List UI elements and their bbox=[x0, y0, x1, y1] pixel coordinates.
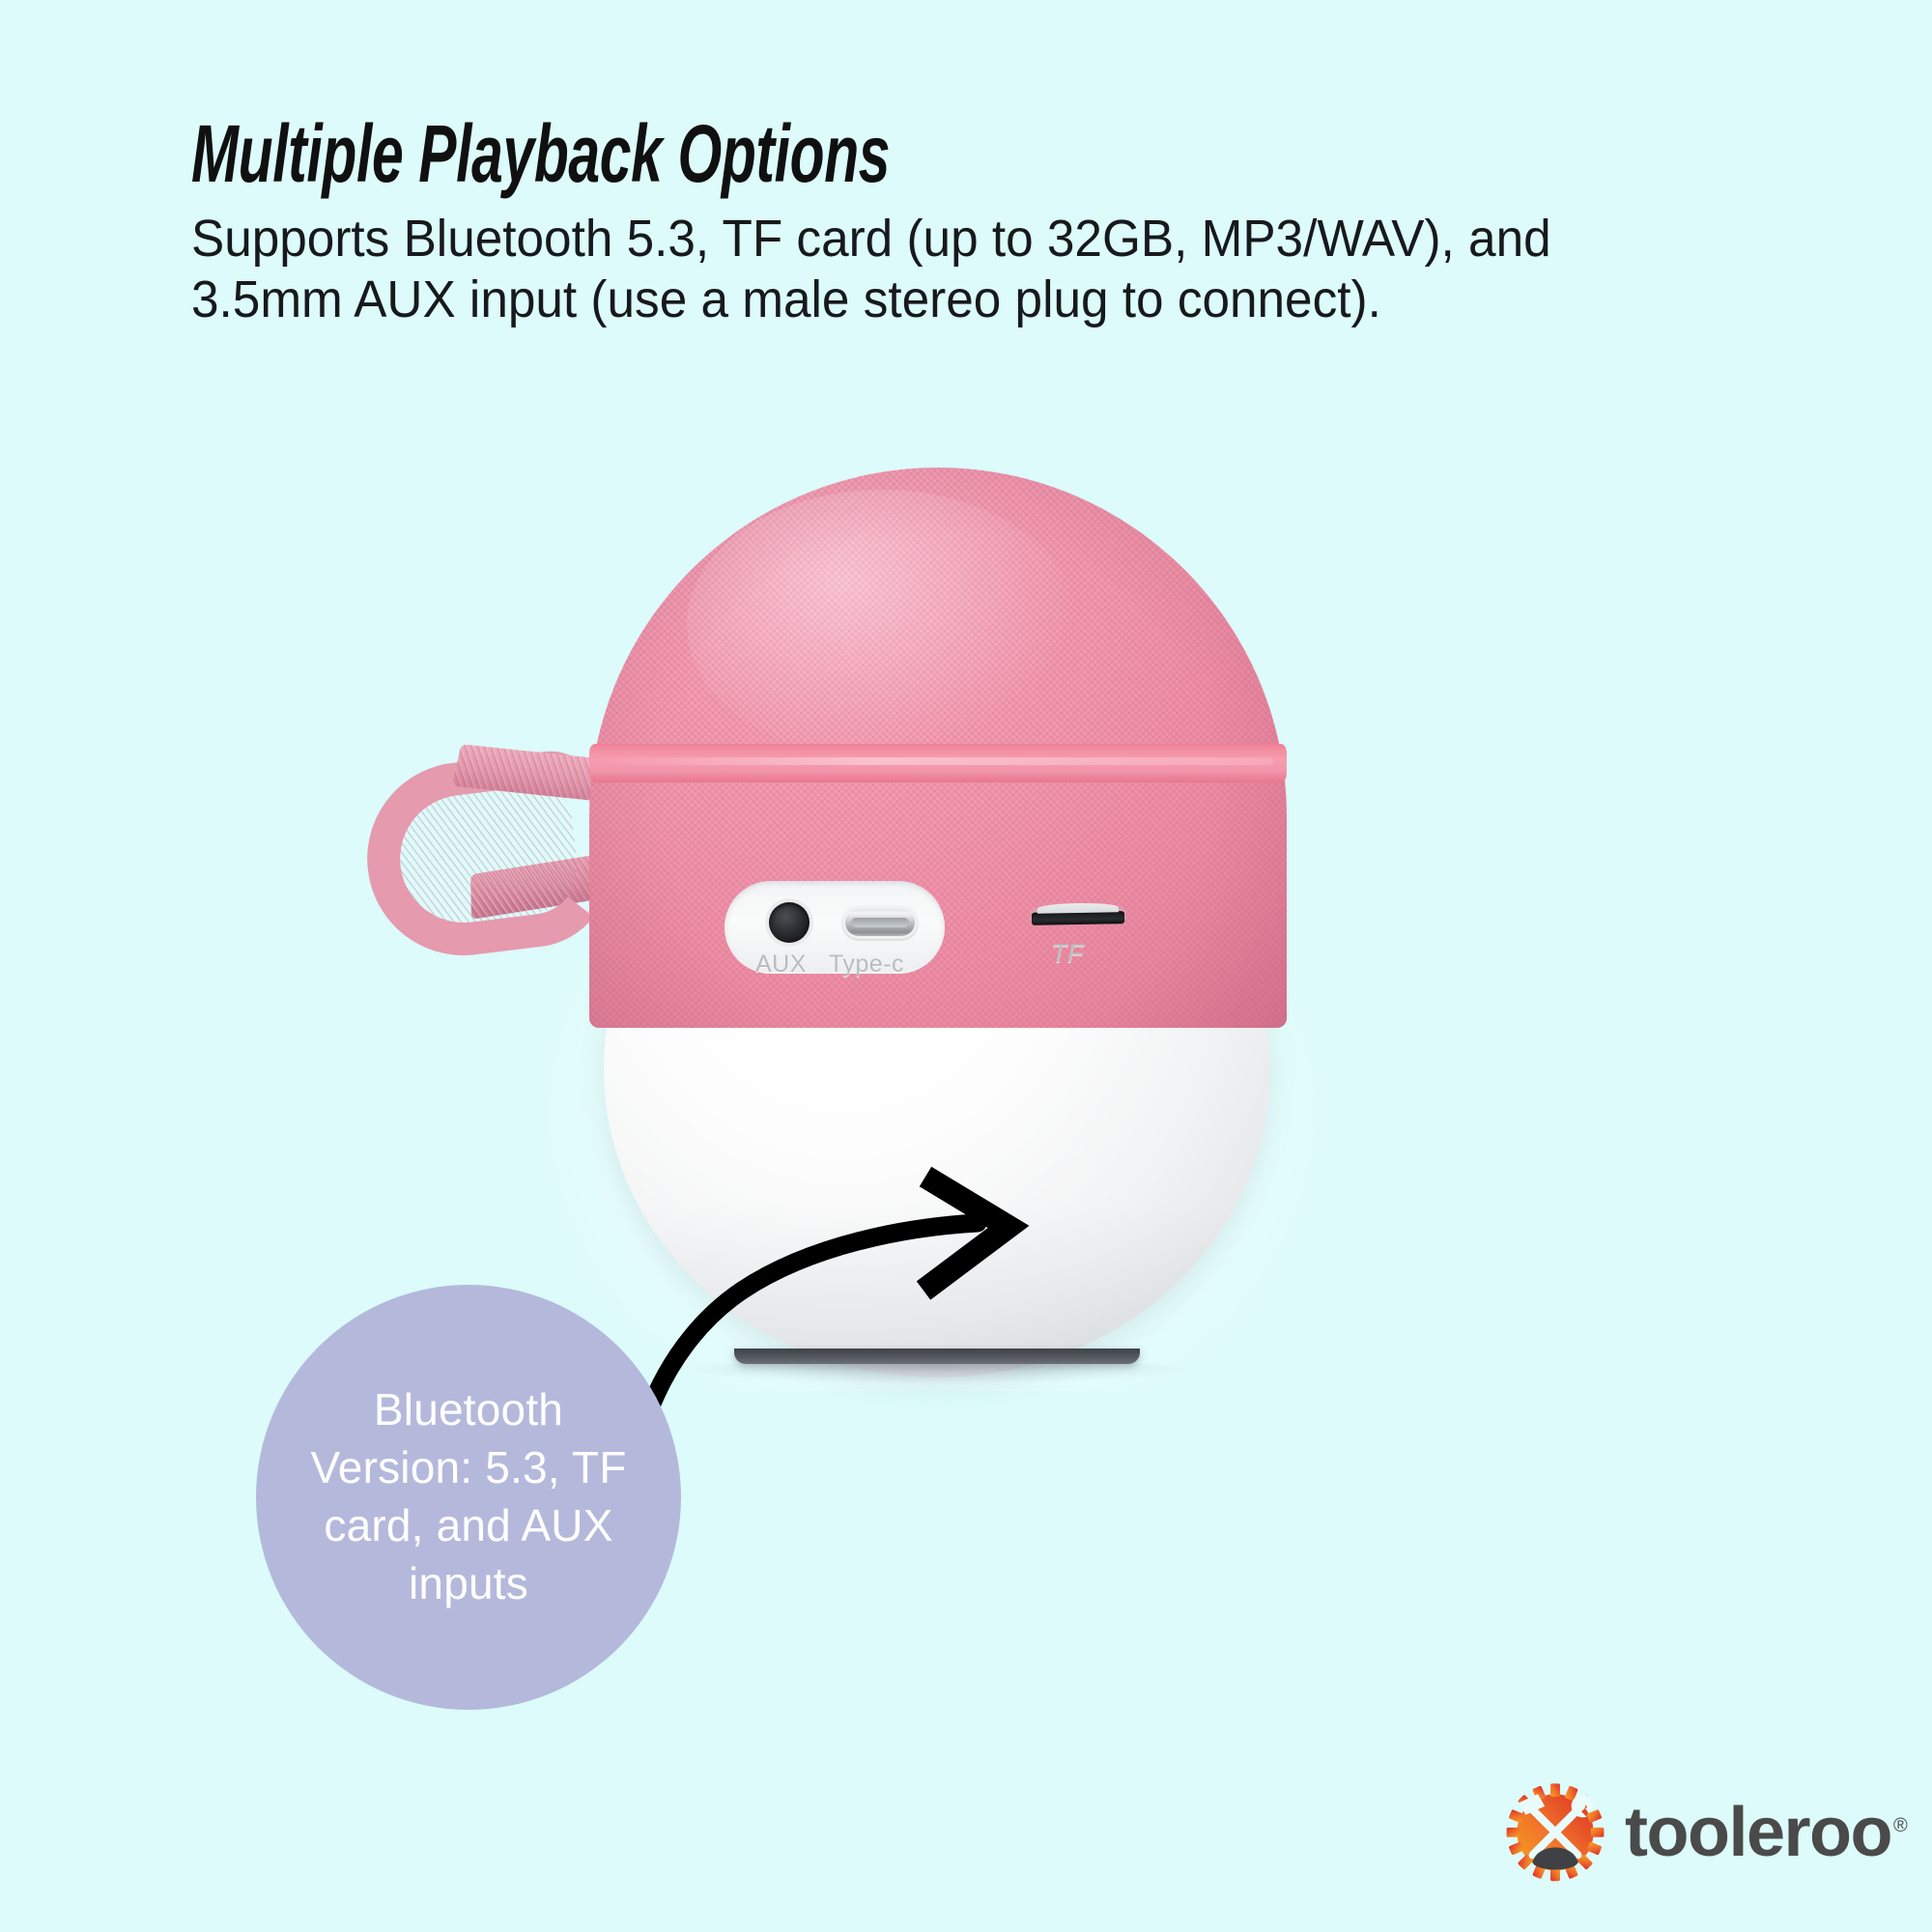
aux-jack-icon bbox=[769, 902, 810, 943]
brand-logo: tooleroo® bbox=[1503, 1777, 1906, 1884]
speaker-pink-band bbox=[589, 744, 1287, 782]
tooleroo-gear-icon bbox=[1503, 1778, 1607, 1883]
brand-name: tooleroo bbox=[1625, 1794, 1891, 1871]
page-subtitle-line-2: 3.5mm AUX input (use a male stereo plug … bbox=[191, 270, 1696, 330]
page-subtitle-line-1: Supports Bluetooth 5.3, TF card (up to 3… bbox=[191, 209, 1696, 270]
page-title: Multiple Playback Options bbox=[191, 114, 1300, 193]
aux-port-label: AUX bbox=[755, 951, 807, 979]
brand-wordmark: tooleroo® bbox=[1625, 1798, 1906, 1867]
typec-port-label: Type-c bbox=[829, 951, 904, 979]
callout-arrow-icon bbox=[618, 1198, 1121, 1526]
marketing-infographic-canvas: Multiple Playback Options Supports Bluet… bbox=[0, 0, 1932, 1932]
strap-ribbing-icon bbox=[393, 781, 583, 929]
registered-trademark-icon: ® bbox=[1893, 1815, 1906, 1836]
callout-text: Bluetooth Version: 5.3, TF card, and AUX… bbox=[256, 1381, 681, 1612]
heading-block: Multiple Playback Options Supports Bluet… bbox=[191, 114, 1776, 330]
page-subtitle: Supports Bluetooth 5.3, TF card (up to 3… bbox=[191, 209, 1696, 329]
tf-slot-label: TF bbox=[1051, 939, 1084, 969]
tf-card-slot-icon bbox=[1032, 911, 1124, 925]
usb-c-port-icon bbox=[842, 906, 918, 939]
callout-bubble: Bluetooth Version: 5.3, TF card, and AUX… bbox=[256, 1285, 681, 1710]
